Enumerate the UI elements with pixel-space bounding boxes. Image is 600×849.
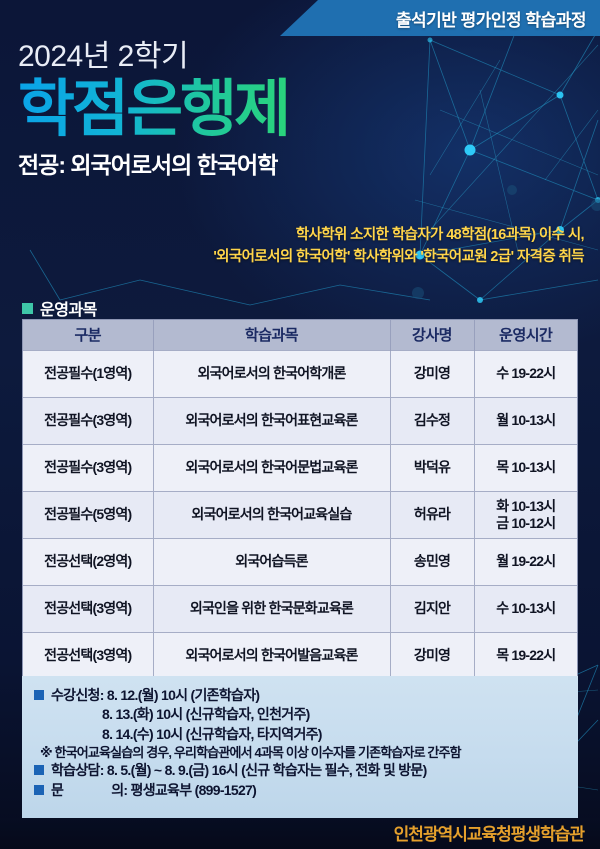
- cell-time: 목 19-22시: [474, 632, 577, 679]
- cell-time: 수 19-22시: [474, 350, 577, 397]
- cell-subject: 외국어로서의 한국어교육실습: [153, 491, 390, 538]
- table-row: 전공필수(1영역)외국어로서의 한국어학개론강미영수 19-22시: [23, 350, 577, 397]
- column-header-time: 운영시간: [474, 320, 577, 350]
- info-counsel-label: 학습상담: 8. 5.(월) ~ 8. 9.(금) 16시 (신규 학습자는 필…: [51, 761, 427, 780]
- page-title: 학점은행제: [18, 77, 288, 142]
- cell-division: 전공필수(3영역): [23, 444, 153, 491]
- square-bullet-icon: [34, 785, 44, 795]
- courses-table: 구분 학습과목 강사명 운영시간 전공필수(1영역)외국어로서의 한국어학개론강…: [23, 320, 577, 679]
- cell-teacher: 박덕유: [390, 444, 474, 491]
- info-apply-label: 수강신청: 8. 12.(월) 10시 (기존학습자): [51, 686, 259, 705]
- square-bullet-icon: [34, 690, 44, 700]
- cell-time-line: 목 10-13시: [476, 459, 577, 476]
- description-line-2: '외국어로서의 한국어학' 학사학위와 '한국어교원 2급' 자격증 취득: [114, 246, 584, 268]
- info-apply-line-3-text: 8. 14.(수) 10시 (신규학습자, 타지역거주): [102, 725, 322, 744]
- cell-time-line: 금 10-12시: [476, 515, 577, 532]
- cell-division: 전공선택(3영역): [23, 632, 153, 679]
- info-contact-label-b: 의: 평생교육부 (899-1527): [111, 781, 256, 800]
- hero-year: 2024년 2학기: [18, 40, 288, 73]
- cell-teacher: 송민영: [390, 538, 474, 585]
- cell-time-line: 화 10-13시: [476, 498, 577, 515]
- hero-block: 2024년 2학기 학점은행제 전공: 외국어로서의 한국어학: [18, 40, 288, 180]
- cell-subject: 외국인을 위한 한국문화교육론: [153, 585, 390, 632]
- column-header-teacher: 강사명: [390, 320, 474, 350]
- table-row: 전공필수(5영역)외국어로서의 한국어교육실습허유라화 10-13시금 10-1…: [23, 491, 577, 538]
- square-bullet-icon: [22, 303, 33, 314]
- cell-time: 목 10-13시: [474, 444, 577, 491]
- cell-time-line: 수 19-22시: [476, 365, 577, 382]
- cell-time: 수 10-13시: [474, 585, 577, 632]
- square-bullet-icon: [34, 765, 44, 775]
- poster-canvas: 출석기반 평가인정 학습과정 2024년 2학기 학점은행제 전공: 외국어로서…: [0, 0, 600, 849]
- table-row: 전공선택(2영역)외국어습득론송민영월 19-22시: [23, 538, 577, 585]
- cell-time: 월 19-22시: [474, 538, 577, 585]
- badge-label: 출석기반 평가인정 학습과정: [280, 0, 600, 36]
- info-contact-label-a: 문: [51, 781, 63, 800]
- table-row: 전공필수(3영역)외국어로서의 한국어문법교육론박덕유목 10-13시: [23, 444, 577, 491]
- hero-major: 전공: 외국어로서의 한국어학: [18, 146, 288, 180]
- info-box: 수강신청: 8. 12.(월) 10시 (기존학습자) 8. 13.(화) 10…: [22, 676, 578, 818]
- course-type-badge: 출석기반 평가인정 학습과정: [280, 0, 600, 36]
- section-heading-label: 운영과목: [40, 296, 97, 320]
- info-apply-line-1: 수강신청: 8. 12.(월) 10시 (기존학습자): [34, 686, 566, 705]
- cell-subject: 외국어로서의 한국어학개론: [153, 350, 390, 397]
- cell-time-line: 목 19-22시: [476, 647, 577, 664]
- cell-time: 화 10-13시금 10-12시: [474, 491, 577, 538]
- cell-division: 전공필수(5영역): [23, 491, 153, 538]
- cell-teacher: 김수정: [390, 397, 474, 444]
- footer-organization: 인천광역시교육청평생학습관: [394, 820, 584, 845]
- cell-time-line: 월 10-13시: [476, 412, 577, 429]
- table-row: 전공필수(3영역)외국어로서의 한국어표현교육론김수정월 10-13시: [23, 397, 577, 444]
- info-apply-line-2: 8. 13.(화) 10시 (신규학습자, 인천거주): [34, 705, 566, 724]
- cell-time: 월 10-13시: [474, 397, 577, 444]
- cell-time-line: 월 19-22시: [476, 553, 577, 570]
- table-row: 전공선택(3영역)외국인을 위한 한국문화교육론김지안수 10-13시: [23, 585, 577, 632]
- column-header-division: 구분: [23, 320, 153, 350]
- cell-time-line: 수 10-13시: [476, 600, 577, 617]
- description-line-1: 학사학위 소지한 학습자가 48학점(16과목) 이수 시,: [114, 224, 584, 246]
- cell-subject: 외국어로서의 한국어발음교육론: [153, 632, 390, 679]
- description-block: 학사학위 소지한 학습자가 48학점(16과목) 이수 시, '외국어로서의 한…: [114, 224, 584, 269]
- cell-subject: 외국어로서의 한국어표현교육론: [153, 397, 390, 444]
- cell-division: 전공필수(3영역): [23, 397, 153, 444]
- cell-division: 전공선택(2영역): [23, 538, 153, 585]
- info-note: ※ 한국어교육실습의 경우, 우리학습관에서 4과목 이상 이수자를 기존학습자…: [34, 744, 566, 762]
- table-row: 전공선택(3영역)외국어로서의 한국어발음교육론강미영목 19-22시: [23, 632, 577, 679]
- column-header-subject: 학습과목: [153, 320, 390, 350]
- courses-table-wrapper: 구분 학습과목 강사명 운영시간 전공필수(1영역)외국어로서의 한국어학개론강…: [22, 319, 578, 680]
- cell-subject: 외국어로서의 한국어문법교육론: [153, 444, 390, 491]
- cell-teacher: 강미영: [390, 350, 474, 397]
- table-header-row: 구분 학습과목 강사명 운영시간: [23, 320, 577, 350]
- cell-division: 전공선택(3영역): [23, 585, 153, 632]
- section-heading: 운영과목: [22, 296, 97, 320]
- table-head: 구분 학습과목 강사명 운영시간: [23, 320, 577, 350]
- cell-teacher: 김지안: [390, 585, 474, 632]
- info-apply-line-3: 8. 14.(수) 10시 (신규학습자, 타지역거주): [34, 725, 566, 744]
- cell-teacher: 강미영: [390, 632, 474, 679]
- info-contact-line: 문 의: 평생교육부 (899-1527): [34, 781, 566, 800]
- info-apply-line-2-text: 8. 13.(화) 10시 (신규학습자, 인천거주): [102, 705, 310, 724]
- cell-subject: 외국어습득론: [153, 538, 390, 585]
- cell-teacher: 허유라: [390, 491, 474, 538]
- info-counsel-line: 학습상담: 8. 5.(월) ~ 8. 9.(금) 16시 (신규 학습자는 필…: [34, 761, 566, 780]
- table-body: 전공필수(1영역)외국어로서의 한국어학개론강미영수 19-22시전공필수(3영…: [23, 350, 577, 679]
- cell-division: 전공필수(1영역): [23, 350, 153, 397]
